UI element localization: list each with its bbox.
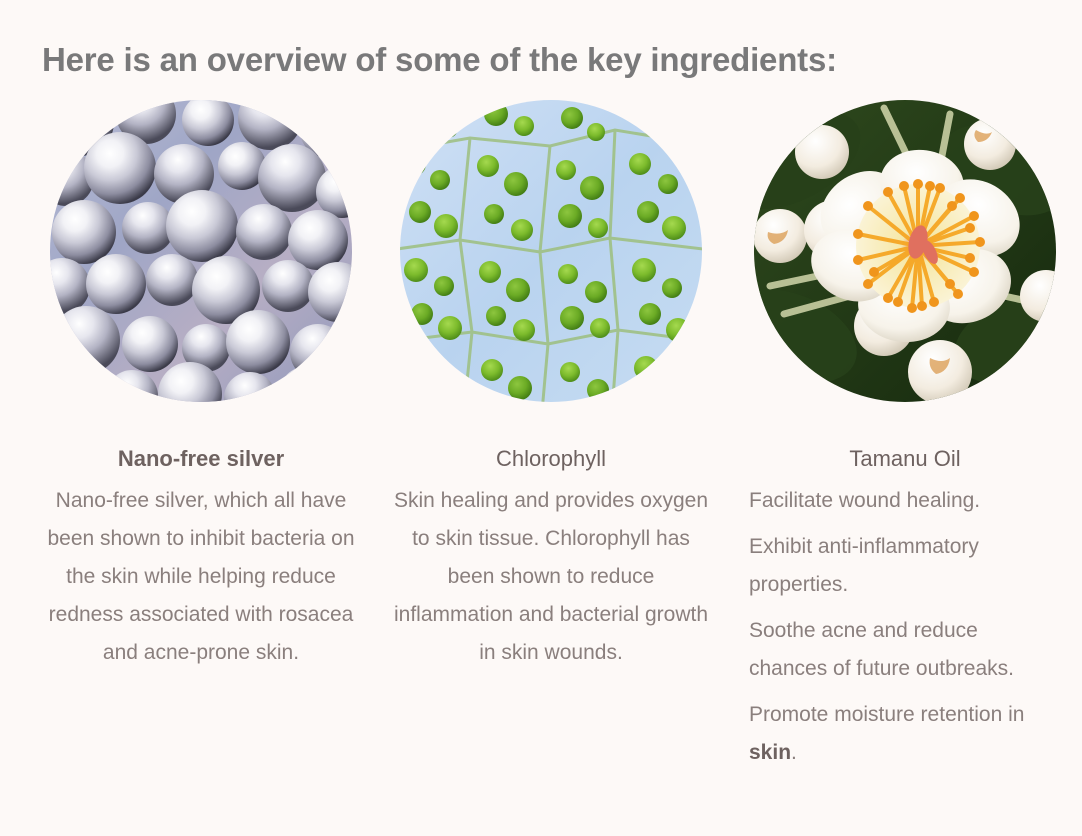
- ingredient-title: Tamanu Oil: [849, 444, 960, 474]
- ingredient-title: Nano-free silver: [118, 444, 284, 474]
- silver-nanoparticles-photo: [50, 100, 352, 402]
- ingredient-description: Skin healing and provides oxygen to skin…: [391, 482, 711, 672]
- bullet-text-before: Promote moisture retention in: [749, 703, 1024, 726]
- page-title: Here is an overview of some of the key i…: [42, 41, 837, 79]
- bullet-text-after: .: [791, 741, 797, 764]
- ingredient-bullet-emphasis: Promote moisture retention in skin.: [749, 696, 1061, 772]
- bullet-text-emphasis: skin: [749, 741, 791, 764]
- ingredient-bullet: Facilitate wound healing.: [749, 482, 1061, 520]
- ingredient-card-silver: Nano-free silver Nano-free silver, which…: [26, 100, 376, 672]
- ingredient-card-chlorophyll: Chlorophyll Skin healing and provides ox…: [376, 100, 726, 672]
- ingredients-overview-page: Here is an overview of some of the key i…: [0, 0, 1082, 836]
- ingredient-description: Facilitate wound healing. Exhibit anti-i…: [749, 482, 1061, 772]
- ingredient-description: Nano-free silver, which all have been sh…: [41, 482, 361, 672]
- ingredient-bullet: Soothe acne and reduce chances of future…: [749, 612, 1061, 688]
- tamanu-flower-photo: [754, 100, 1056, 402]
- ingredient-bullet: Exhibit anti-inflammatory properties.: [749, 528, 1061, 604]
- ingredient-card-tamanu: Tamanu Oil Facilitate wound healing. Exh…: [730, 100, 1080, 772]
- chlorophyll-cells-micrograph: [400, 100, 702, 402]
- ingredient-title: Chlorophyll: [496, 444, 606, 474]
- ingredients-columns: Nano-free silver Nano-free silver, which…: [0, 100, 1082, 772]
